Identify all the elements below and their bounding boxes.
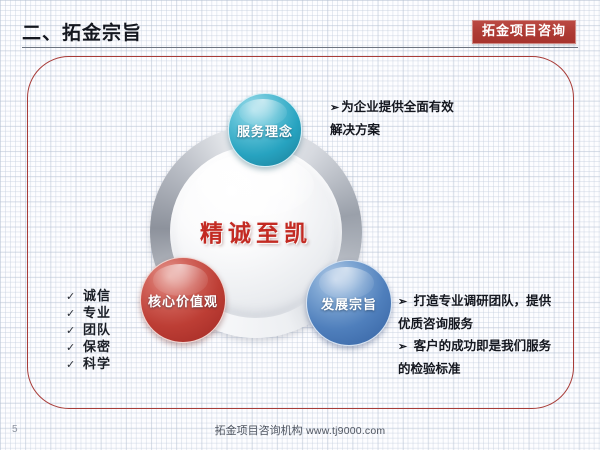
list-item-label: 科学 [83,356,111,373]
check-icon: ✓ [66,356,83,373]
list-item-label: 诚信 [83,288,111,305]
check-icon: ✓ [66,339,83,356]
center-slogan: 精诚至凯 [170,214,342,248]
list-item-label: 保密 [83,339,111,356]
note-text: 的检验标准 [398,358,578,379]
note-text: 为企业提供全面有效 [341,99,454,114]
note-line: ➢ 打造专业调研团队，提供 [398,290,578,312]
diagram-lobe-core-values-label: 核心价值观 [148,291,218,310]
status-badge: 拓金项目咨询 [472,20,576,44]
note-line: 优质咨询服务 [398,313,578,334]
check-icon: ✓ [66,322,83,339]
diagram-lobe-core-values[interactable]: 核心价值观 [140,257,226,343]
arrow-bullet-icon: ➢ [398,295,407,308]
note-text: 客户的成功即是我们服务 [414,338,552,353]
footer-org: 拓金项目咨询机构 [215,424,303,437]
slide-canvas: 二、拓金宗旨 拓金项目咨询 精诚至凯 服务理念 核心价值观 发展宗旨 ✓ 诚信 … [0,0,600,450]
list-item: ✓ 团队 [66,322,111,339]
arrow-bullet-icon: ➢ [398,340,407,353]
list-item: ✓ 专业 [66,305,111,322]
diagram-lobe-development[interactable]: 发展宗旨 [306,260,392,346]
note-service-concept: ➢为企业提供全面有效 解决方案 [330,96,518,141]
note-line: 解决方案 [330,119,518,140]
page-title: 二、拓金宗旨 [22,18,142,45]
diagram-lobe-service-label: 服务理念 [237,121,293,140]
check-icon: ✓ [66,305,83,322]
list-item-label: 专业 [83,305,111,322]
list-item-label: 团队 [83,322,111,339]
list-item: ✓ 诚信 [66,288,111,305]
check-icon: ✓ [66,288,83,305]
note-text: 打造专业调研团队，提供 [414,293,552,308]
value-checklist: ✓ 诚信 ✓ 专业 ✓ 团队 ✓ 保密 ✓ 科学 [66,288,111,373]
footer-credit: 拓金项目咨询机构 www.tj9000.com [0,422,600,438]
note-line: 的检验标准 [398,358,578,379]
note-text: 优质咨询服务 [398,313,578,334]
note-text: 解决方案 [330,119,518,140]
arrow-bullet-icon: ➢ [330,101,339,114]
diagram-lobe-service[interactable]: 服务理念 [228,93,302,167]
note-line: ➢为企业提供全面有效 [330,96,518,118]
footer-url: www.tj9000.com [306,425,385,437]
diagram-lobe-development-label: 发展宗旨 [321,294,377,313]
note-development-aims: ➢ 打造专业调研团队，提供 优质咨询服务 ➢ 客户的成功即是我们服务 的检验标准 [398,290,578,380]
title-divider [22,47,578,48]
list-item: ✓ 保密 [66,339,111,356]
list-item: ✓ 科学 [66,356,111,373]
note-line: ➢ 客户的成功即是我们服务 [398,335,578,357]
